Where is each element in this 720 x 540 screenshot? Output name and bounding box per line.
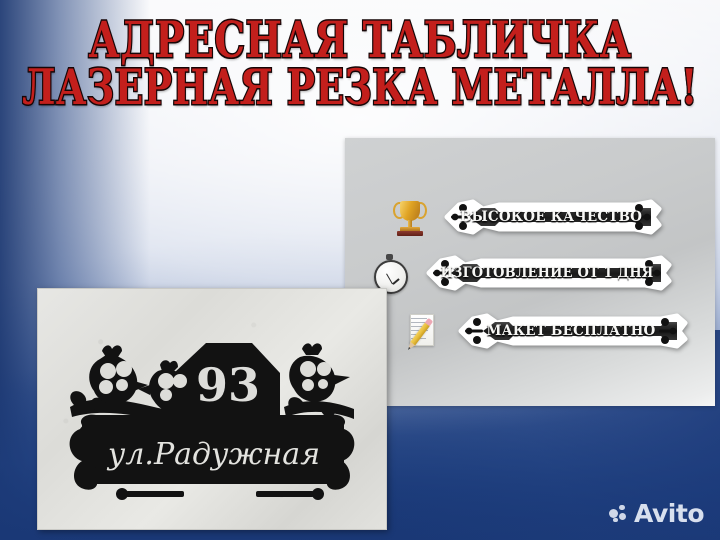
feature-label: ВЫСОКОЕ КАЧЕСТВО — [460, 209, 642, 226]
feature-plaque: ВЫСОКОЕ КАЧЕСТВО — [439, 197, 663, 237]
promo-image: АДРЕСНАЯ ТАБЛИЧКА ЛАЗЕРНАЯ РЕЗКА МЕТАЛЛА… — [0, 0, 720, 540]
avito-logo-icon — [609, 505, 629, 523]
features-list: ВЫСОКОЕ КАЧЕСТВО — [345, 138, 715, 406]
feature-label: МАКЕТ БЕСПЛАТНО — [486, 323, 655, 340]
feature-plaque: МАКЕТ БЕСПЛАТНО — [453, 311, 689, 351]
feature-row: МАКЕТ БЕСПЛАТНО — [345, 300, 715, 362]
feature-row: ИЗГОТОВЛЕНИЕ ОТ 1 ДНЯ — [345, 242, 715, 304]
address-plate-graphic: 93 ул.Радужная — [38, 289, 386, 529]
feature-row: ВЫСОКОЕ КАЧЕСТВО — [345, 186, 715, 248]
feature-plaque: ИЗГОТОВЛЕНИЕ ОТ 1 ДНЯ — [421, 253, 673, 293]
feature-label: ИЗГОТОВЛЕНИЕ ОТ 1 ДНЯ — [441, 265, 654, 281]
house-number: 93 — [196, 358, 260, 412]
note-pencil-icon — [403, 308, 449, 354]
features-panel: ВЫСОКОЕ КАЧЕСТВО — [345, 138, 715, 406]
street-name: ул.Радужная — [106, 437, 320, 472]
trophy-icon — [387, 194, 433, 240]
address-plate-photo: 93 ул.Радужная — [37, 288, 387, 530]
avito-wordmark: Avito — [634, 501, 704, 526]
avito-watermark: Avito — [609, 501, 704, 526]
